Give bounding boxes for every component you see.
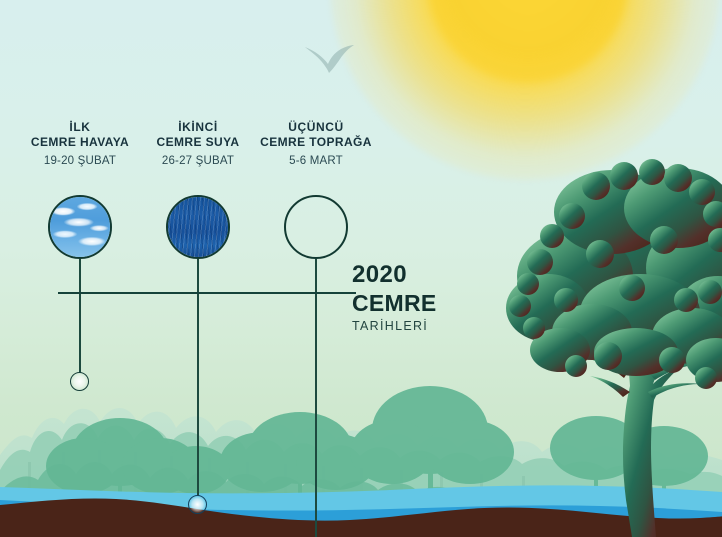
node-label-ucuncu: ÜÇÜNCÜ CEMRE TOPRAĞA 5-6 MART: [231, 120, 401, 168]
infographic-canvas: İLK CEMRE HAVAYA 19-20 ŞUBAT İKİNCİ CEMR…: [0, 0, 722, 537]
stem-ilk-bottom: [79, 292, 81, 373]
water-texture: [168, 197, 228, 257]
title-word: CEMRE: [352, 291, 472, 317]
air-texture: [50, 197, 110, 257]
marker-ilk[interactable]: [70, 372, 89, 391]
photo-circle-soil[interactable]: [284, 195, 348, 259]
timeline-axis: [58, 292, 356, 294]
stem-ikinci-bottom: [197, 292, 199, 496]
photo-circle-air[interactable]: [48, 195, 112, 259]
stem-ikinci-top: [197, 259, 199, 292]
stem-ucuncu-top: [315, 259, 317, 292]
photo-circle-water[interactable]: [166, 195, 230, 259]
marker-ikinci[interactable]: [188, 495, 207, 514]
title-year: 2020: [352, 262, 472, 287]
soil-texture: [286, 197, 346, 257]
title-subtitle: TARİHLERİ: [352, 319, 472, 333]
stem-ilk-top: [79, 259, 81, 292]
node-date-ucuncu: 5-6 MART: [231, 154, 401, 169]
node-order-ucuncu: ÜÇÜNCÜ: [231, 120, 401, 135]
timeline: İLK CEMRE HAVAYA 19-20 ŞUBAT İKİNCİ CEMR…: [0, 0, 722, 537]
title-block: 2020 CEMRE TARİHLERİ: [352, 262, 472, 333]
stem-ucuncu-bottom: [315, 292, 317, 537]
node-name-ucuncu: CEMRE TOPRAĞA: [231, 135, 401, 150]
